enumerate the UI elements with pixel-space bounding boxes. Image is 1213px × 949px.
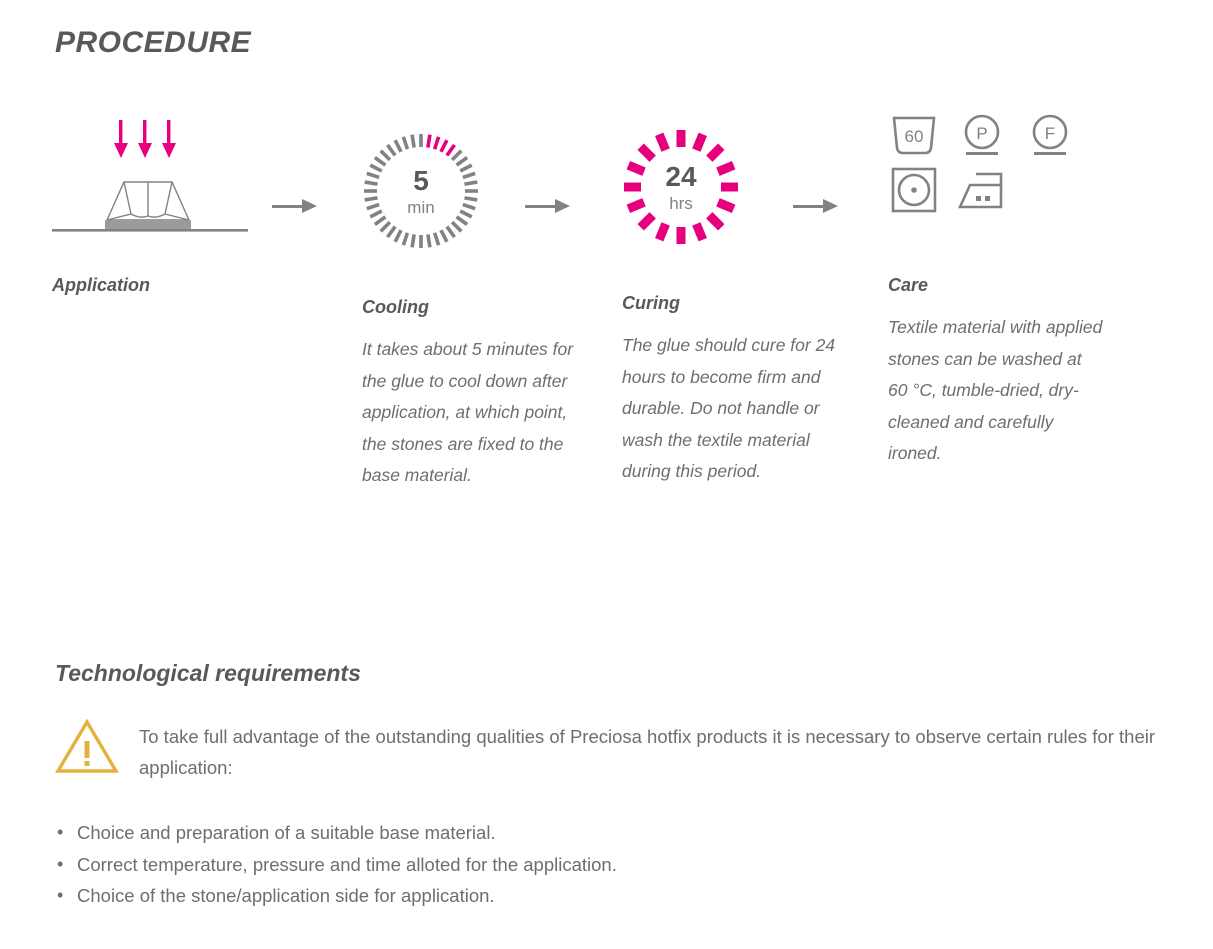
dry-clean-f-underline — [1034, 152, 1066, 155]
page-title: PROCEDURE — [55, 26, 251, 60]
care-symbols-row-1: 60 P F — [888, 110, 1076, 158]
application-icon-area — [52, 110, 302, 275]
step-label-curing: Curing — [622, 293, 852, 314]
timer-dial-value: 5 — [413, 167, 429, 195]
iron-dot-1 — [976, 196, 981, 201]
dry-clean-p-letter: P — [976, 124, 987, 143]
arrow-head — [823, 199, 838, 213]
iron-two-dots-icon — [956, 166, 1008, 214]
burst-dial-icon: 24 hrs — [622, 128, 740, 246]
care-symbols-row-2 — [888, 166, 1076, 214]
requirements-bullet-list: Choice and preparation of a suitable bas… — [55, 817, 1155, 912]
burst-dial-value: 24 — [665, 163, 696, 191]
list-item: Choice of the stone/application side for… — [55, 880, 1155, 912]
wash-tub-temp: 60 — [905, 127, 924, 146]
arrow-shaft — [793, 205, 825, 208]
timer-dial-unit: min — [407, 199, 434, 216]
arrow-right-icon-3 — [793, 198, 839, 216]
tumble-dry-dot — [911, 187, 917, 193]
glue-layer — [105, 220, 191, 229]
arrow-shaft — [272, 205, 304, 208]
list-item: Correct temperature, pressure and time a… — [55, 849, 1155, 881]
step-body-curing: The glue should cure for 24 hours to bec… — [622, 330, 852, 488]
step-body-care: Textile material with applied stones can… — [888, 312, 1103, 470]
step-label-application: Application — [52, 275, 302, 296]
burst-dial-unit: hrs — [669, 195, 693, 212]
step-label-care: Care — [888, 275, 1103, 296]
dry-clean-p-underline — [966, 152, 998, 155]
tech-requirements-title: Technological requirements — [55, 660, 1155, 687]
arrow-right-icon-2 — [525, 198, 571, 216]
care-symbols-group: 60 P F — [888, 110, 1076, 222]
procedure-section: Application 5 min Cooling It takes about… — [0, 110, 1213, 570]
dry-clean-p-icon: P — [956, 110, 1008, 158]
list-item: Choice and preparation of a suitable bas… — [55, 817, 1155, 849]
step-label-cooling: Cooling — [362, 297, 577, 318]
procedure-step-care: 60 P F — [888, 110, 1103, 470]
iron-dot-2 — [985, 196, 990, 201]
care-icon-area: 60 P F — [888, 110, 1103, 275]
step-body-cooling: It takes about 5 minutes for the glue to… — [362, 334, 577, 492]
procedure-step-application: Application — [52, 110, 302, 312]
warning-text: To take full advantage of the outstandin… — [139, 715, 1155, 783]
arrow-shaft — [525, 205, 557, 208]
technological-requirements-section: Technological requirements To take full … — [55, 660, 1155, 912]
timer-dial-icon: 5 min — [362, 132, 480, 250]
dry-clean-f-letter: F — [1045, 124, 1055, 143]
dry-clean-f-icon: F — [1024, 110, 1076, 158]
procedure-step-curing: 24 hrs Curing The glue should cure for 2… — [622, 110, 852, 488]
stone-application-icon — [52, 110, 302, 250]
warning-triangle-icon — [55, 718, 119, 774]
base-material-line — [52, 229, 248, 232]
arrow-head — [555, 199, 570, 213]
timer-dial-center: 5 min — [362, 132, 480, 250]
tumble-dry-icon — [888, 166, 940, 214]
warning-block: To take full advantage of the outstandin… — [55, 715, 1155, 783]
arrow-right-icon-1 — [272, 198, 318, 216]
wash-tub-icon: 60 — [888, 110, 940, 158]
burst-dial-center: 24 hrs — [622, 128, 740, 246]
page-root: PROCEDURE — [0, 0, 1213, 949]
arrow-head — [302, 199, 317, 213]
procedure-step-cooling: 5 min Cooling It takes about 5 minutes f… — [362, 110, 577, 492]
